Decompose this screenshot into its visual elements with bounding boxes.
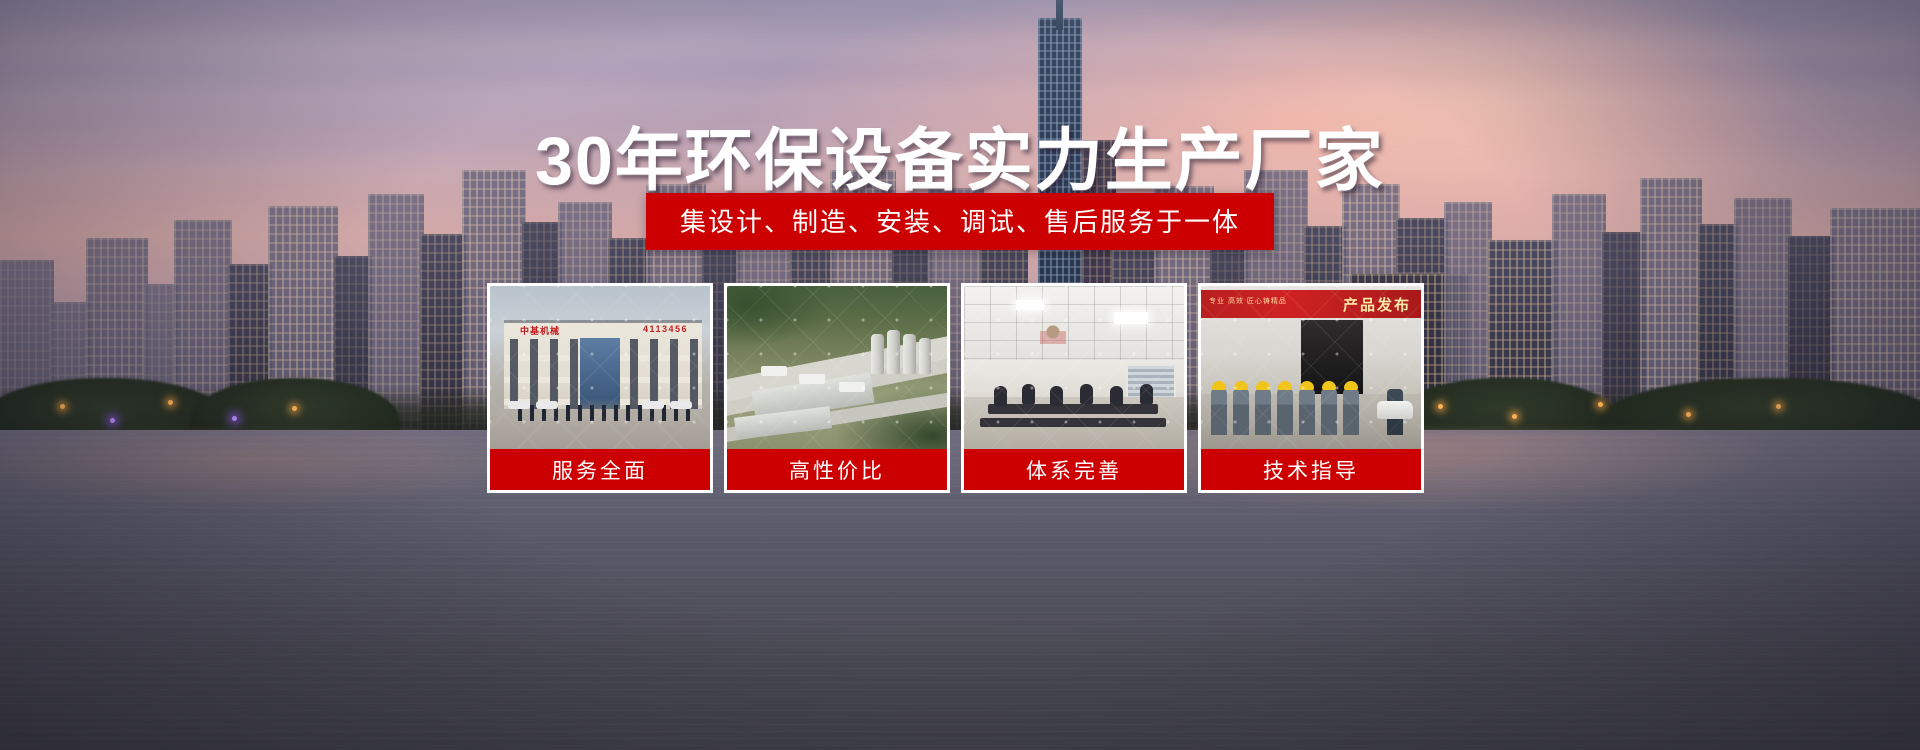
office-worker	[1050, 386, 1063, 406]
ceiling-light	[1114, 312, 1148, 324]
office-building-photo: 中基机械 4113456	[487, 283, 713, 449]
worker-figure	[1299, 389, 1315, 435]
storage-silo	[871, 334, 884, 374]
feature-card-list: 中基机械 4113456 服务全面	[487, 283, 1433, 493]
wall-slogan-text: 专业 高效 匠心铸精品	[1209, 296, 1287, 306]
aerial-factory-photo	[724, 283, 950, 449]
worker-figure	[1211, 389, 1227, 435]
workshop-vehicle	[1377, 401, 1413, 419]
storage-silo	[903, 334, 916, 374]
delivery-truck	[839, 382, 865, 392]
ceiling-light	[1016, 300, 1044, 310]
subtitle-badge: 集设计、制造、安装、调试、售后服务于一体	[646, 193, 1274, 250]
feature-card[interactable]: 体系完善	[961, 283, 1187, 493]
office-worker	[1080, 384, 1093, 404]
feature-card-caption: 技术指导	[1198, 449, 1424, 493]
storage-silo	[919, 338, 931, 374]
wall-emblem	[1040, 322, 1066, 344]
parked-car	[508, 401, 530, 409]
hero-banner: 30年环保设备实力生产厂家 集设计、制造、安装、调试、售后服务于一体 中基机械 …	[0, 0, 1920, 750]
feature-card-caption: 服务全面	[487, 449, 713, 493]
building-phone-label: 4113456	[643, 324, 688, 334]
workshop-workers-photo: 产品发布 专业 高效 匠心铸精品	[1198, 283, 1424, 449]
office-worker	[1110, 386, 1123, 406]
office-desk	[988, 404, 1158, 414]
feature-card-caption: 体系完善	[961, 449, 1187, 493]
delivery-truck	[761, 366, 787, 376]
page-title: 30年环保设备实力生产厂家	[0, 105, 1920, 204]
office-worker	[994, 386, 1007, 406]
office-interior-photo	[961, 283, 1187, 449]
parked-car	[642, 401, 664, 409]
office-worker	[1140, 384, 1153, 404]
storage-silo	[887, 330, 900, 374]
delivery-truck	[799, 374, 825, 384]
building-company-label: 中基机械	[520, 324, 560, 337]
office-desk	[980, 418, 1166, 427]
parked-car	[670, 401, 692, 409]
feature-card-caption: 高性价比	[724, 449, 950, 493]
office-worker	[1022, 384, 1035, 404]
worker-figure	[1255, 389, 1271, 435]
feature-card[interactable]: 中基机械 4113456 服务全面	[487, 283, 713, 493]
worker-figure	[1321, 389, 1337, 435]
parked-car	[536, 401, 558, 409]
worker-figure	[1277, 389, 1293, 435]
worker-figure	[1343, 389, 1359, 435]
feature-card[interactable]: 高性价比	[724, 283, 950, 493]
banner-content: 30年环保设备实力生产厂家 集设计、制造、安装、调试、售后服务于一体 中基机械 …	[0, 0, 1920, 750]
feature-card[interactable]: 产品发布 专业 高效 匠心铸精品 技术指导	[1198, 283, 1424, 493]
worker-figure	[1233, 389, 1249, 435]
office-ceiling	[964, 286, 1184, 360]
